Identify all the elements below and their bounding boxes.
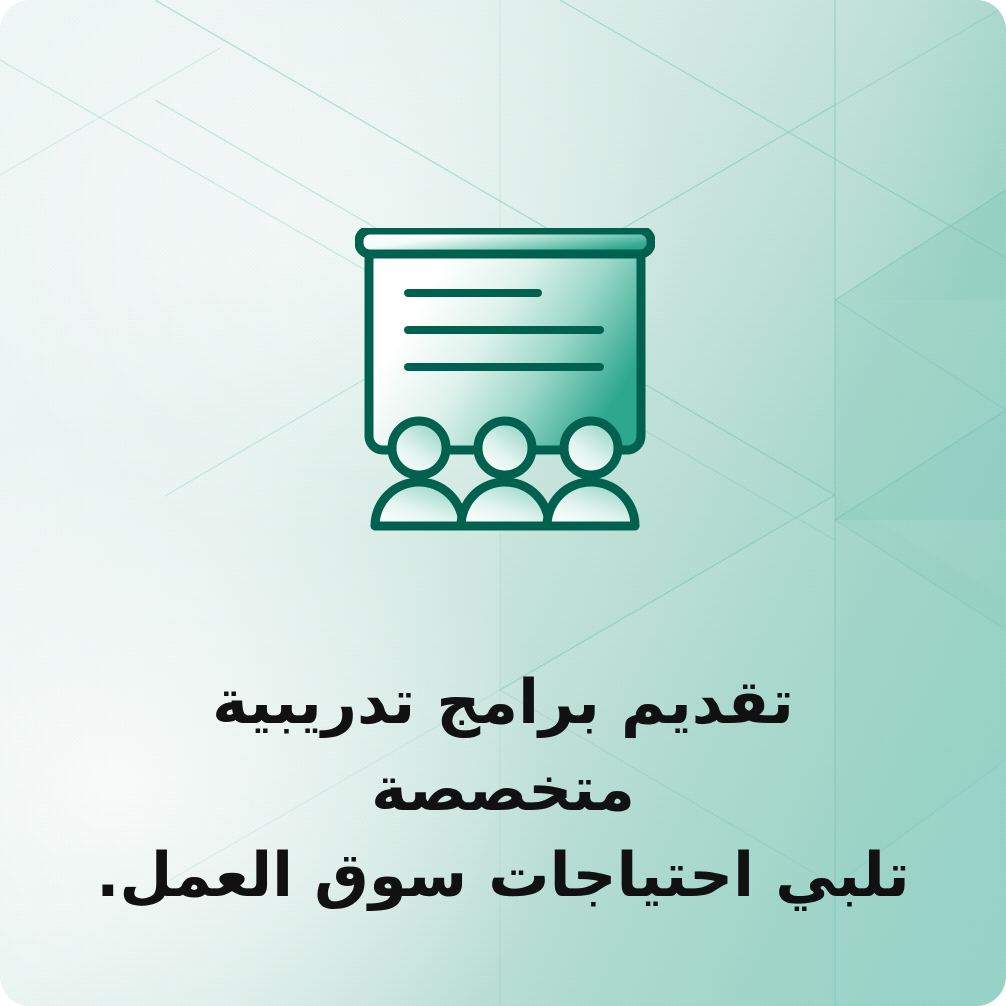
audience-body-left — [375, 482, 463, 526]
audience-body-right — [547, 482, 635, 526]
audience-head-right — [564, 421, 618, 475]
audience-head-center — [478, 421, 532, 475]
training-program-card: تقديم برامج تدريبية متخصصة تلبي احتياجات… — [0, 0, 1006, 1006]
audience-head-left — [392, 421, 446, 475]
board-top-rail — [359, 230, 651, 254]
card-caption: تقديم برامج تدريبية متخصصة تلبي احتياجات… — [0, 660, 1006, 920]
training-presentation-icon — [355, 228, 655, 533]
audience-body-center — [461, 482, 549, 526]
